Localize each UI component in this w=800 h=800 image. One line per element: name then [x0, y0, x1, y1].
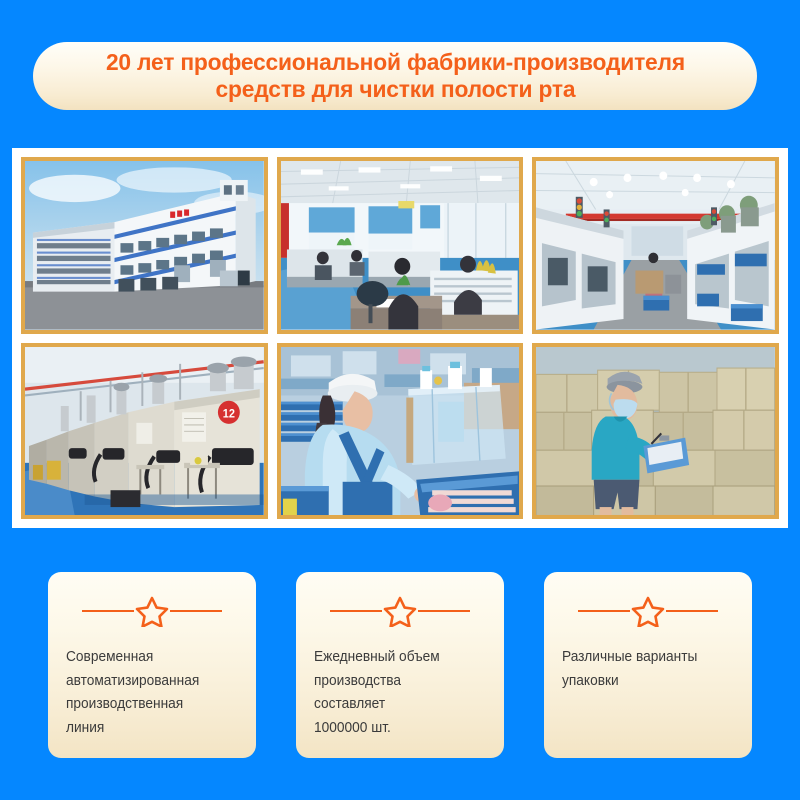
assembly-worker-image [281, 347, 520, 516]
photo-frame-factory-building[interactable] [21, 157, 268, 334]
feature-card-text: Ежедневный объем производства составляет… [314, 646, 476, 741]
star-icon [383, 595, 417, 627]
photo-gallery-panel: 12 [12, 148, 788, 528]
divider-rule-right [170, 610, 222, 612]
star-icon [135, 595, 169, 627]
page-title-line-1: 20 лет профессиональной фабрики-производ… [106, 49, 685, 75]
photo-frame-warehouse-inspection[interactable] [532, 343, 779, 520]
factory-building-image [25, 161, 264, 330]
feature-card-3[interactable]: Различные варианты упаковки [544, 572, 752, 758]
divider-rule-left [82, 610, 134, 612]
divider-rule-left [330, 610, 382, 612]
office-workspace-image [281, 161, 520, 330]
feature-card-text: Современная автоматизированная производс… [66, 646, 228, 741]
page-title: 20 лет профессиональной фабрики-производ… [106, 49, 685, 104]
injection-molding-machines-image: 12 [25, 347, 264, 516]
star-divider-3 [562, 594, 734, 628]
photo-frame-production-line-hall[interactable] [532, 157, 779, 334]
photo-frame-office-workspace[interactable] [277, 157, 524, 334]
star-divider-1 [66, 594, 238, 628]
divider-rule-left [578, 610, 630, 612]
feature-card-2[interactable]: Ежедневный объем производства составляет… [296, 572, 504, 758]
feature-cards-row: Современная автоматизированная производс… [48, 572, 752, 758]
page-title-line-2: средств для чистки полости рта [106, 76, 685, 103]
photo-frame-injection-molding-machines[interactable]: 12 [21, 343, 268, 520]
star-icon [631, 595, 665, 627]
header-banner: 20 лет профессиональной фабрики-производ… [33, 42, 757, 110]
divider-rule-right [666, 610, 718, 612]
star-divider-2 [314, 594, 486, 628]
warehouse-inspection-image [536, 347, 775, 516]
feature-card-text: Различные варианты упаковки [562, 646, 724, 693]
feature-card-1[interactable]: Современная автоматизированная производс… [48, 572, 256, 758]
svg-text:12: 12 [223, 408, 235, 420]
divider-rule-right [418, 610, 470, 612]
production-line-hall-image [536, 161, 775, 330]
photo-frame-assembly-worker[interactable] [277, 343, 524, 520]
